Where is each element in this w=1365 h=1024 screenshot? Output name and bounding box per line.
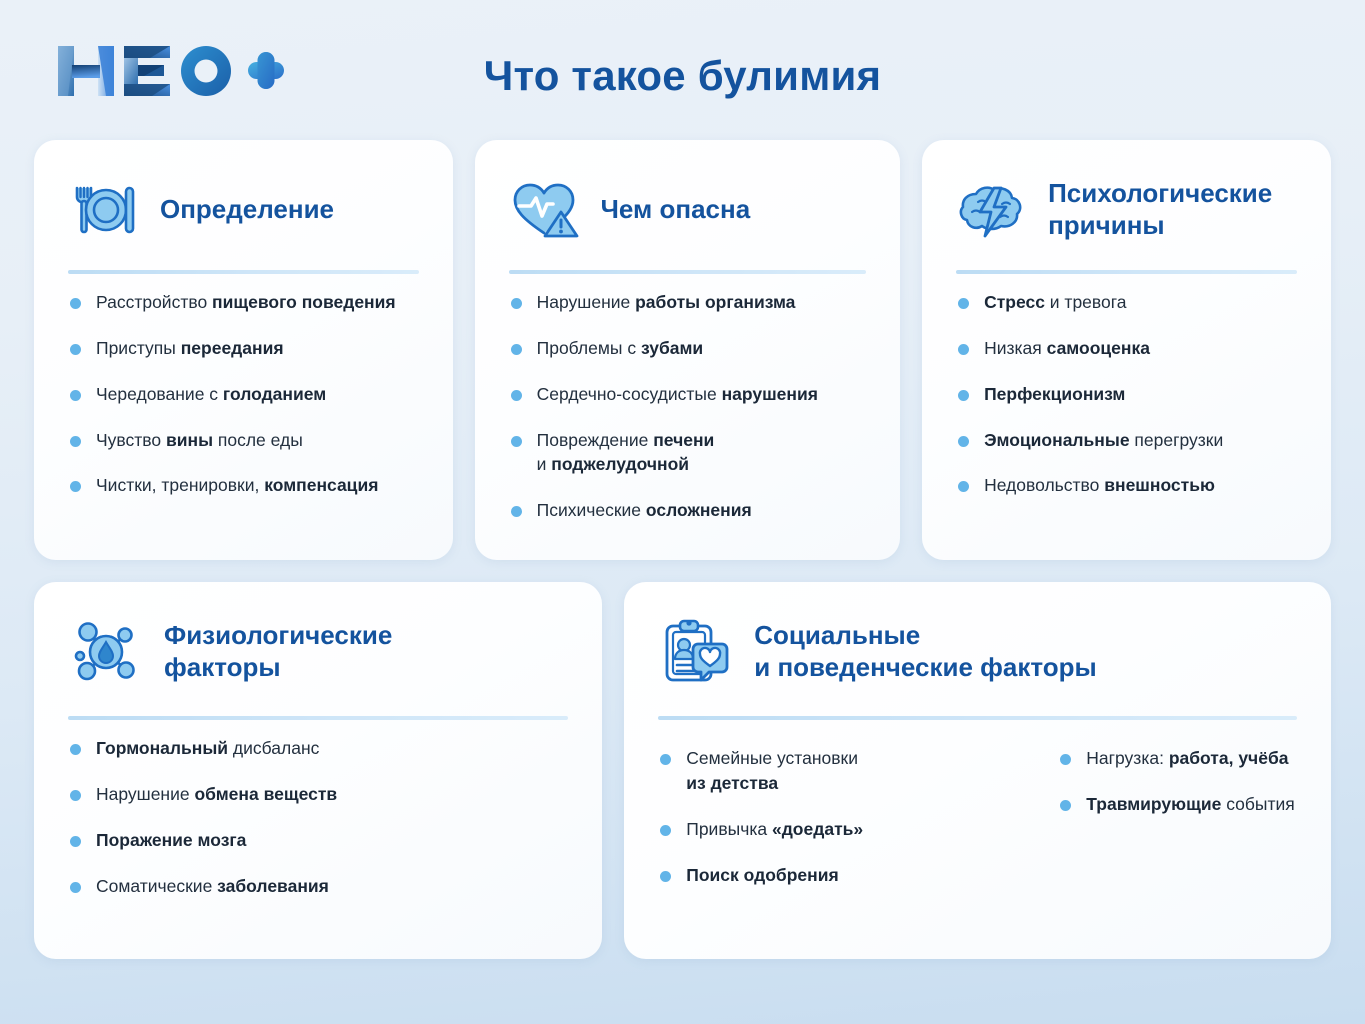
list-item: Проблемы с зубами [509, 336, 866, 361]
list-item: Соматические заболевания [68, 874, 568, 899]
card-danger: Чем опасна Нарушение работы организмаПро… [475, 140, 900, 560]
list-item: Стресс и тревога [956, 290, 1297, 315]
card-divider [509, 270, 866, 274]
card-divider [68, 716, 568, 720]
card-social-behavioral-factors: Социальныеи поведенческие факторы Семейн… [624, 582, 1331, 959]
list-item: Приступы переедания [68, 336, 419, 361]
bullet-column-right: Нагрузка: работа, учёбаТравмирующие собы… [1058, 730, 1297, 887]
list-item: Повреждение печении поджелудочной [509, 428, 866, 478]
card-header: Психологическиепричины [956, 172, 1297, 248]
list-item: Нагрузка: работа, учёба [1058, 746, 1297, 771]
cards-row-bottom: Физиологическиефакторы Гормональный дисб… [34, 582, 1331, 959]
card-title: Физиологическиефакторы [164, 620, 392, 683]
list-item: Сердечно-сосудистые нарушения [509, 382, 866, 407]
list-item: Семейные установкииз детства [658, 746, 1018, 796]
cards-row-top: Определение Расстройство пищевого поведе… [34, 140, 1331, 560]
list-item: Нарушение обмена веществ [68, 782, 568, 807]
clipboard-person-heart-icon [658, 614, 734, 690]
list-item: Недовольство внешностью [956, 473, 1297, 498]
list-item: Расстройство пищевого поведения [68, 290, 419, 315]
list-item: Поражение мозга [68, 828, 568, 853]
list-item: Чередование с голоданием [68, 382, 419, 407]
card-definition: Определение Расстройство пищевого поведе… [34, 140, 453, 560]
list-item: Нарушение работы организма [509, 290, 866, 315]
list-item: Чувство вины после еды [68, 428, 419, 453]
card-header: Социальныеи поведенческие факторы [658, 614, 1297, 690]
brain-lightning-icon [956, 174, 1028, 246]
card-header: Чем опасна [509, 172, 866, 248]
card-divider [956, 270, 1297, 274]
bullet-list: Гормональный дисбалансНарушение обмена в… [68, 736, 568, 898]
bullet-list: Нарушение работы организмаПроблемы с зуб… [509, 290, 866, 523]
card-divider [658, 716, 1297, 720]
cards-board: Определение Расстройство пищевого поведе… [0, 140, 1365, 959]
card-title: Социальныеи поведенческие факторы [754, 620, 1097, 683]
bullet-list: Стресс и тревогаНизкая самооценкаПерфекц… [956, 290, 1297, 498]
card-title: Определение [160, 194, 334, 226]
list-item: Поиск одобрения [658, 863, 1018, 888]
page-header: Что такое булимия [0, 0, 1365, 140]
list-item: Психические осложнения [509, 498, 866, 523]
card-header: Физиологическиефакторы [68, 614, 568, 690]
list-item: Травмирующие события [1058, 792, 1297, 817]
plate-fork-knife-icon [68, 174, 140, 246]
list-item: Низкая самооценка [956, 336, 1297, 361]
bullet-list: Расстройство пищевого поведенияПриступы … [68, 290, 419, 498]
list-item: Привычка «доедать» [658, 817, 1018, 842]
list-item: Чистки, тренировки, компенсация [68, 473, 419, 498]
bullet-column-left: Семейные установкииз детстваПривычка «до… [658, 730, 1018, 887]
card-title: Психологическиепричины [1048, 178, 1272, 241]
heart-pulse-warning-icon [509, 174, 581, 246]
list-item: Гормональный дисбаланс [68, 736, 568, 761]
bullet-list: Нагрузка: работа, учёбаТравмирующие собы… [1058, 746, 1297, 817]
page-title: Что такое булимия [0, 52, 1365, 100]
list-item: Эмоциональные перегрузки [956, 428, 1297, 453]
card-psychological-causes: Психологическиепричины Стресс и тревогаН… [922, 140, 1331, 560]
card-header: Определение [68, 172, 419, 248]
card-title: Чем опасна [601, 194, 751, 226]
card-physiological-factors: Физиологическиефакторы Гормональный дисб… [34, 582, 602, 959]
molecule-hormone-icon [68, 614, 144, 690]
bullet-list: Семейные установкииз детстваПривычка «до… [658, 746, 1018, 887]
card-divider [68, 270, 419, 274]
bullet-columns: Семейные установкииз детстваПривычка «до… [658, 730, 1297, 887]
list-item: Перфекционизм [956, 382, 1297, 407]
